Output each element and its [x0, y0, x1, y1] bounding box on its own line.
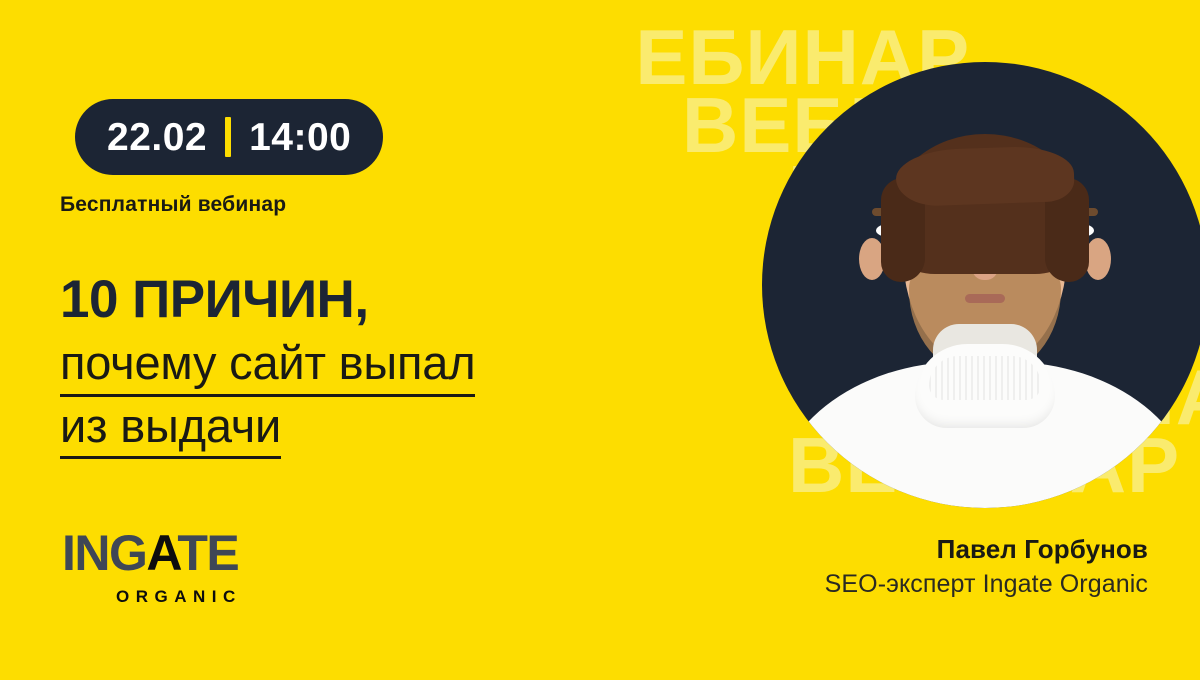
portrait-turtleneck-collar [915, 344, 1055, 428]
free-webinar-label: Бесплатный вебинар [60, 193, 286, 217]
badge-separator [225, 117, 231, 157]
logo-word-part1: ING [62, 525, 146, 581]
speaker-portrait [762, 62, 1200, 508]
headline-sub-text-1: почему сайт выпал [60, 334, 475, 396]
badge-date: 22.02 [107, 118, 207, 157]
speaker-name: Павел Горбунов [825, 533, 1148, 566]
ingate-organic-logo: INGATE ORGANIC [62, 528, 242, 607]
headline-subtitle: почему сайт выпал из выдачи [60, 334, 475, 459]
speaker-info: Павел Горбунов SEO-эксперт Ingate Organi… [825, 533, 1148, 600]
portrait-fringe [895, 145, 1075, 207]
date-time-badge: 22.02 14:00 [75, 99, 383, 175]
logo-subtitle: ORGANIC [116, 587, 242, 607]
headline-sub-text-2: из выдачи [60, 397, 281, 459]
webinar-banner: ВЕБИНАРВЕБИНАРВЕБИНАРВЕБИНАРВЕБИНАРВЕБИН… [0, 0, 1200, 680]
badge-time: 14:00 [249, 118, 351, 157]
speaker-role: SEO-эксперт Ingate Organic [825, 569, 1148, 600]
headline-main: 10 ПРИЧИН, [60, 272, 475, 328]
headline-sub-line-2: из выдачи [60, 397, 475, 459]
logo-word-accent: A [146, 525, 177, 581]
logo-wordmark: INGATE [62, 528, 242, 578]
headline-block: 10 ПРИЧИН, почему сайт выпал из выдачи [60, 272, 475, 459]
logo-word-part2: TE [177, 525, 238, 581]
headline-sub-line-1: почему сайт выпал [60, 334, 475, 396]
portrait-mouth [965, 294, 1005, 303]
